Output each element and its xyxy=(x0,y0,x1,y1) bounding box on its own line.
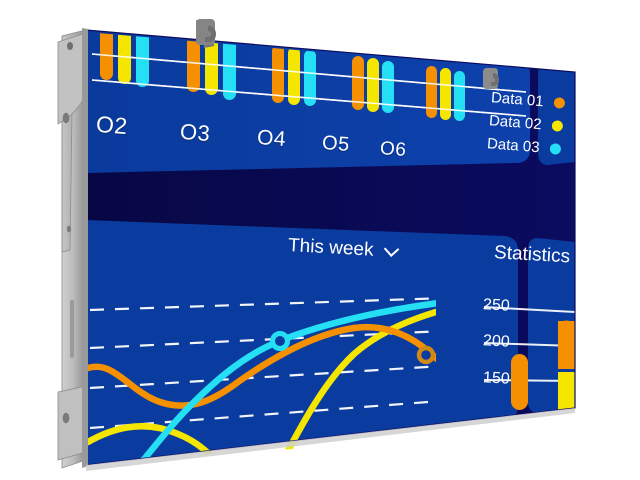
bar-data02 xyxy=(205,29,218,95)
bar-data01 xyxy=(426,66,437,118)
x-axis-label-o3: O3 xyxy=(179,119,211,147)
led-display-screen: O2 O3 O4 O5 O6 Data 01 Data 02 Data 03 T… xyxy=(86,10,576,478)
bar-data03 xyxy=(454,71,465,121)
bar-data01 xyxy=(272,45,284,103)
x-axis-label-o5: O5 xyxy=(321,132,350,157)
bar-data02 xyxy=(440,68,451,120)
y-axis-label-150: 150 xyxy=(483,369,511,388)
legend-dot-icon xyxy=(549,143,561,155)
screen-left-edge xyxy=(82,28,88,468)
product-photo-led-video-wall: O2 O3 O4 O5 O6 Data 01 Data 02 Data 03 T… xyxy=(0,0,640,480)
y-axis-label-200: 200 xyxy=(483,332,511,351)
bar-data01 xyxy=(100,18,113,80)
bar-data02 xyxy=(118,22,131,84)
x-axis-label-o6: O6 xyxy=(379,138,407,162)
stat-bar-2 xyxy=(558,321,575,411)
stat-bar-2-data02 xyxy=(558,372,575,410)
screw-icon xyxy=(67,42,73,50)
data-point-marker-orange xyxy=(419,348,433,362)
bracket-hole-icon xyxy=(63,113,70,123)
this-week-label: This week xyxy=(288,235,375,261)
legend-dot-icon xyxy=(551,120,563,132)
bracket-hole-icon xyxy=(67,226,71,233)
bar-group-o6 xyxy=(426,66,465,121)
x-axis-label-o4: O4 xyxy=(256,126,287,152)
y-axis-label-250: 250 xyxy=(483,296,511,315)
legend-dot-icon xyxy=(553,97,565,109)
stat-bar-1-data01 xyxy=(511,354,528,410)
x-axis-label-o2: O2 xyxy=(95,111,129,140)
data-point-marker-cyan xyxy=(273,334,288,349)
bracket-hole-icon xyxy=(63,413,70,423)
bar-group-o2 xyxy=(100,18,149,87)
